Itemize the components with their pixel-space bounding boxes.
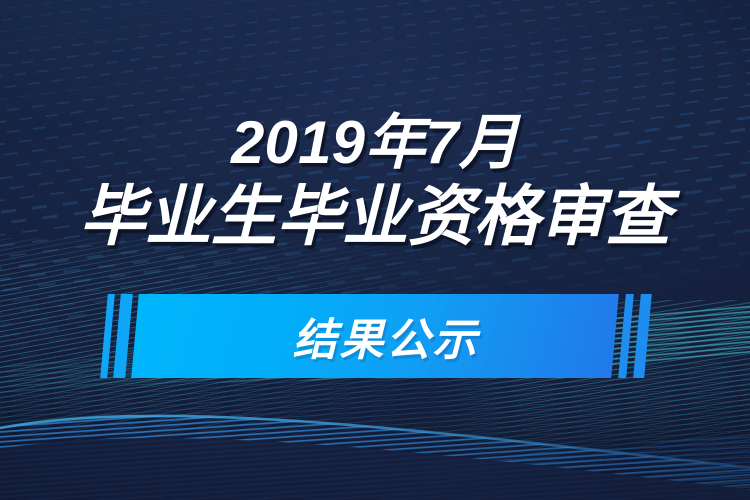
title-line-year-month: 2019年7月 [0, 112, 750, 173]
title-line-subject: 毕业生毕业资格审查 [0, 181, 750, 252]
announcement-poster: 2019年7月 毕业生毕业资格审查 结果公示 [0, 0, 750, 500]
banner-label: 结果公示 [135, 294, 615, 378]
accent-bar-right-b [633, 294, 652, 378]
headline-block: 2019年7月 毕业生毕业资格审查 [0, 112, 750, 252]
accent-bar-right-a [618, 294, 634, 378]
accent-bar-left-thick [113, 294, 133, 378]
accent-bar-left-thin [100, 294, 115, 378]
banner-strip: 结果公示 [0, 294, 750, 378]
